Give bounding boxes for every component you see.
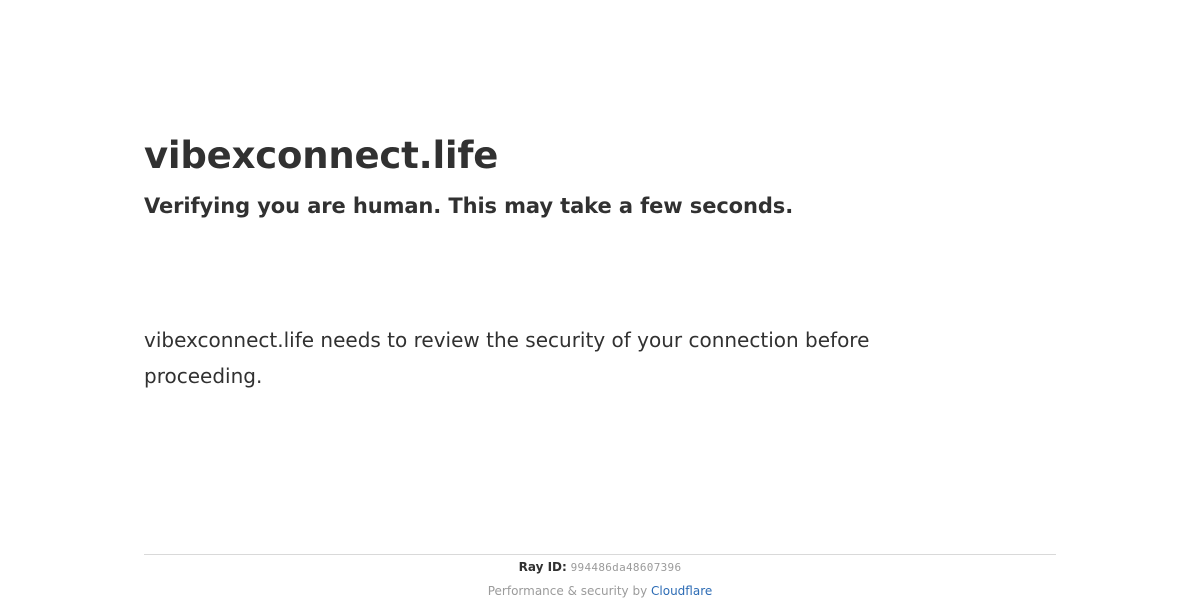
page-title: vibexconnect.life xyxy=(144,133,498,179)
turnstile-challenge-widget[interactable] xyxy=(144,240,444,310)
challenge-page: vibexconnect.life Verifying you are huma… xyxy=(0,0,1200,600)
attribution-prefix: Performance & security by xyxy=(488,584,651,598)
attribution-row: Performance & security by Cloudflare xyxy=(144,581,1056,601)
verification-status-text: Verifying you are human. This may take a… xyxy=(144,192,793,220)
challenge-description: vibexconnect.life needs to review the se… xyxy=(144,322,944,394)
ray-id-row: Ray ID: 994486da48607396 xyxy=(144,556,1056,579)
cloudflare-link[interactable]: Cloudflare xyxy=(651,584,712,598)
ray-id-label: Ray ID: xyxy=(519,560,567,574)
ray-id-value: 994486da48607396 xyxy=(571,561,682,574)
footer: Ray ID: 994486da48607396 Performance & s… xyxy=(144,556,1056,601)
footer-divider xyxy=(144,554,1056,555)
